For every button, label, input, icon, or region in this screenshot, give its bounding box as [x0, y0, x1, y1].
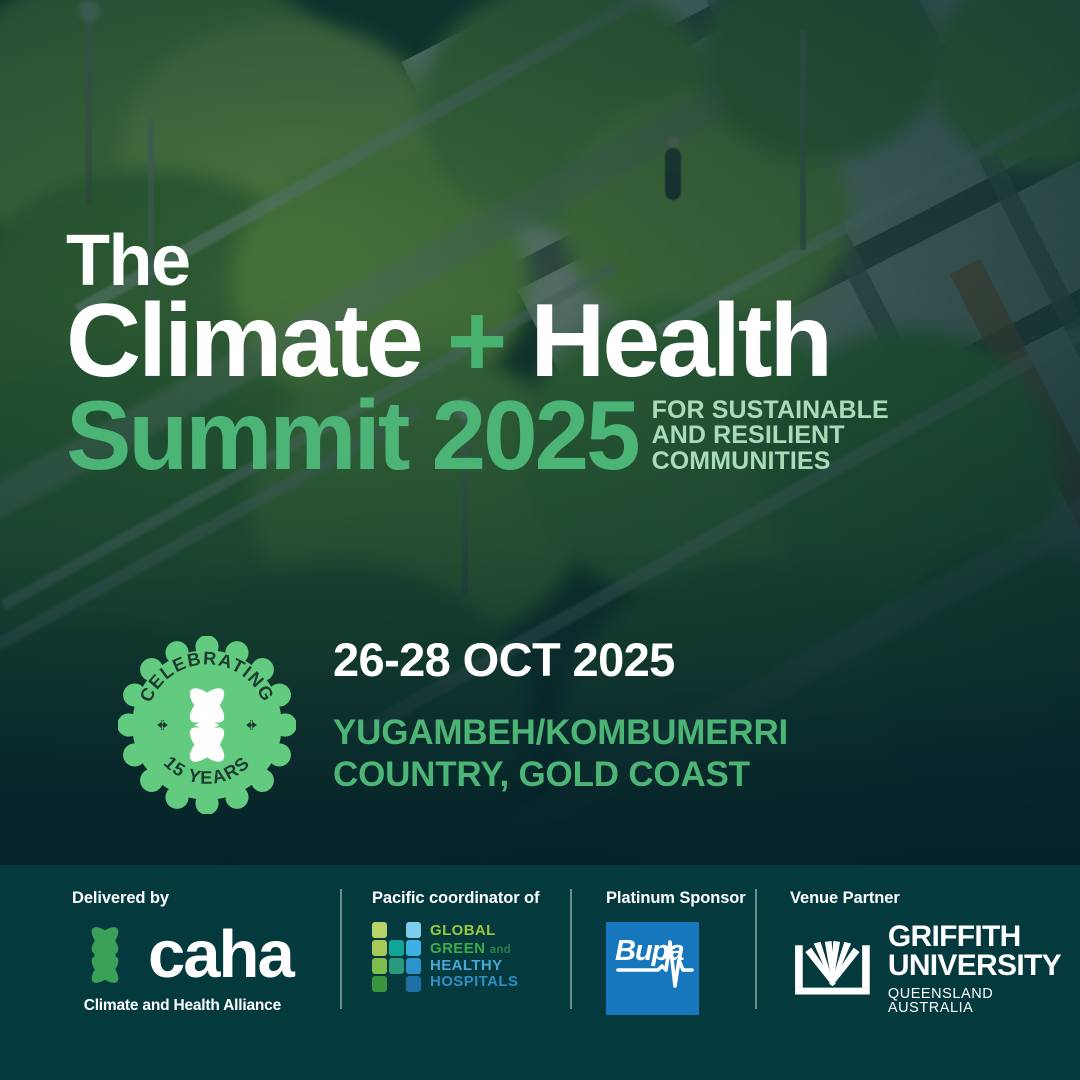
- caha-logo[interactable]: caha Climate and Health Alliance: [72, 922, 340, 1015]
- gghh-tile-grid: [372, 922, 421, 992]
- footer-divider-1: [340, 889, 342, 1009]
- title-line-summit-row: Summit 2025 FOR SUSTAINABLE AND RESILIEN…: [66, 388, 1026, 482]
- sponsor-footer: Delivered by: [0, 865, 1080, 1080]
- gghh-tile: [372, 922, 387, 938]
- griffith-wordmark: GRIFFITH UNIVERSITY QUEENSLAND AUSTRALIA: [888, 922, 1080, 1015]
- gghh-tile: [372, 940, 387, 956]
- footer-label-venue-partner: Venue Partner: [790, 889, 1080, 908]
- poster-title: The Climate + Health Summit 2025 FOR SUS…: [66, 228, 1026, 482]
- footer-column-delivered-by: Delivered by: [0, 865, 340, 1080]
- griffith-line-2: UNIVERSITY: [888, 951, 1080, 980]
- event-location-line-2: COUNTRY, GOLD COAST: [333, 754, 788, 797]
- bupa-logo[interactable]: Bupa: [606, 922, 755, 1015]
- footer-column-pacific-coordinator: Pacific coordinator of: [340, 865, 570, 1080]
- caha-mark-icon: [72, 922, 138, 988]
- event-dates: 26-28 OCT 2025: [333, 634, 788, 686]
- bupa-heartbeat-icon: [606, 922, 699, 1015]
- tagline-line-3: COMMUNITIES: [652, 449, 889, 475]
- footer-column-venue-partner: Venue Partner: [755, 865, 1080, 1080]
- gghh-tile: [389, 922, 404, 938]
- footer-label-delivered-by: Delivered by: [72, 889, 340, 908]
- event-details: 26-28 OCT 2025 YUGAMBEH/KOMBUMERRI COUNT…: [333, 634, 788, 797]
- gghh-line-green: GREEN: [430, 940, 485, 957]
- footer-label-pacific-coordinator: Pacific coordinator of: [372, 889, 570, 908]
- griffith-line-1: GRIFFITH: [888, 922, 1080, 951]
- badge-svg: CELEBRATING 15 YEARS: [118, 636, 296, 814]
- title-line-climate-health: Climate + Health: [66, 292, 1026, 392]
- gghh-word-and: and: [490, 944, 511, 956]
- gghh-tile: [406, 976, 421, 992]
- footer-divider-2: [570, 889, 572, 1009]
- gghh-line-healthy: HEALTHY: [430, 958, 518, 975]
- gghh-tile: [372, 976, 387, 992]
- gghh-tile: [406, 940, 421, 956]
- gghh-tile: [389, 940, 404, 956]
- footer-column-platinum-sponsor: Platinum Sponsor Bupa: [570, 865, 755, 1080]
- griffith-fan-icon: [790, 936, 875, 1002]
- caha-subtitle: Climate and Health Alliance: [84, 997, 281, 1015]
- event-location: YUGAMBEH/KOMBUMERRI COUNTRY, GOLD COAST: [333, 712, 788, 797]
- griffith-line-3: QUEENSLAND AUSTRALIA: [888, 987, 1080, 1015]
- celebrating-15-years-badge: CELEBRATING 15 YEARS: [118, 636, 296, 814]
- event-location-line-1: YUGAMBEH/KOMBUMERRI: [333, 712, 788, 755]
- caha-wordmark: caha: [148, 928, 293, 982]
- tagline-line-2: AND RESILIENT: [652, 423, 889, 449]
- title-tagline: FOR SUSTAINABLE AND RESILIENT COMMUNITIE…: [652, 398, 889, 483]
- gghh-line-global: GLOBAL: [430, 923, 518, 940]
- gghh-logo[interactable]: GLOBAL GREEN and HEALTHY HOSPITALS: [372, 922, 570, 992]
- gghh-tile: [389, 976, 404, 992]
- gghh-tile: [372, 958, 387, 974]
- griffith-logo[interactable]: GRIFFITH UNIVERSITY QUEENSLAND AUSTRALIA: [790, 922, 1080, 1015]
- tagline-line-1: FOR SUSTAINABLE: [652, 398, 889, 424]
- gghh-wordmark: GLOBAL GREEN and HEALTHY HOSPITALS: [430, 923, 518, 991]
- footer-divider-3: [755, 889, 757, 1009]
- gghh-tile: [406, 958, 421, 974]
- gghh-line-hospitals: HOSPITALS: [430, 974, 518, 991]
- event-poster: The Climate + Health Summit 2025 FOR SUS…: [0, 0, 1080, 1080]
- gghh-tile: [406, 922, 421, 938]
- gghh-tile: [389, 958, 404, 974]
- title-line-summit-2025: Summit 2025: [66, 388, 638, 482]
- footer-label-platinum-sponsor: Platinum Sponsor: [606, 889, 755, 908]
